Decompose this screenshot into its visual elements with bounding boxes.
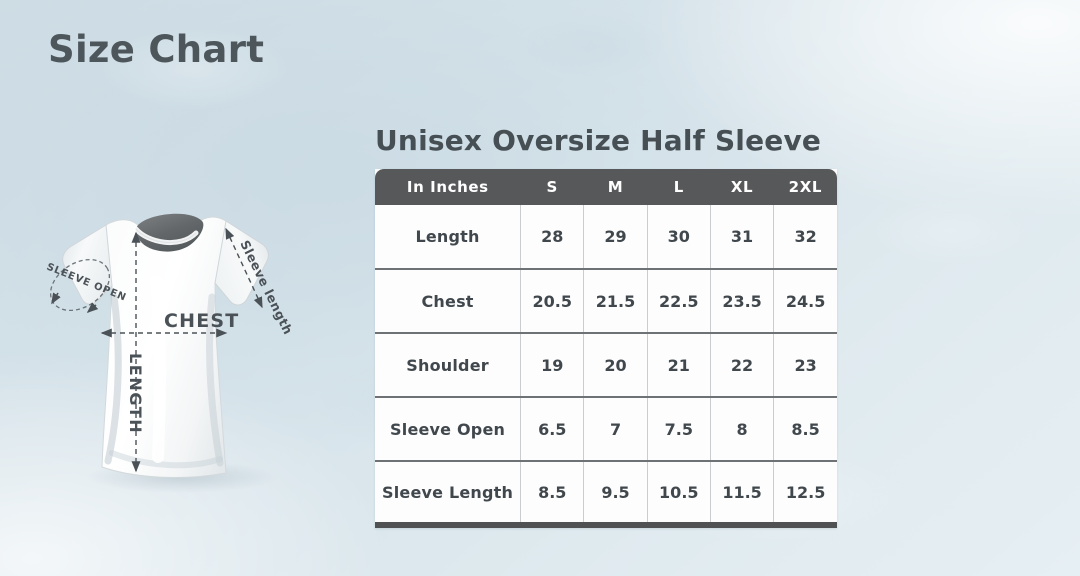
cell-length-2xl: 32 <box>774 205 837 269</box>
column-header-l: L <box>647 169 710 205</box>
table-row: Shoulder 19 20 21 22 23 <box>375 333 837 397</box>
cell-length-xl: 31 <box>710 205 773 269</box>
cell-chest-m: 21.5 <box>584 269 647 333</box>
table-row: Sleeve Length 8.5 9.5 10.5 11.5 12.5 <box>375 461 837 525</box>
column-header-s: S <box>521 169 584 205</box>
row-label-sleeve-length: Sleeve Length <box>375 461 521 525</box>
tshirt-illustration: CHEST LENGTH Sleeve length SLEEVE OPEN <box>30 185 330 495</box>
table-row: Sleeve Open 6.5 7 7.5 8 8.5 <box>375 397 837 461</box>
cell-shoulder-s: 19 <box>521 333 584 397</box>
column-header-unit: In Inches <box>375 169 521 205</box>
size-table-title: Unisex Oversize Half Sleeve <box>375 124 837 157</box>
cell-sleeve-open-s: 6.5 <box>521 397 584 461</box>
cell-shoulder-xl: 22 <box>710 333 773 397</box>
cell-chest-2xl: 24.5 <box>774 269 837 333</box>
size-table: In Inches S M L XL 2XL Length 28 29 30 3… <box>375 169 837 528</box>
cell-length-m: 29 <box>584 205 647 269</box>
size-chart-page: Size Chart <box>0 0 1080 576</box>
column-header-xl: XL <box>710 169 773 205</box>
cell-sleeve-open-2xl: 8.5 <box>774 397 837 461</box>
size-table-body: Length 28 29 30 31 32 Chest 20.5 21.5 22… <box>375 205 837 525</box>
row-label-length: Length <box>375 205 521 269</box>
cell-chest-s: 20.5 <box>521 269 584 333</box>
column-header-m: M <box>584 169 647 205</box>
column-header-2xl: 2XL <box>774 169 837 205</box>
cell-sleeve-length-s: 8.5 <box>521 461 584 525</box>
row-label-shoulder: Shoulder <box>375 333 521 397</box>
row-label-chest: Chest <box>375 269 521 333</box>
cell-sleeve-open-l: 7.5 <box>647 397 710 461</box>
size-table-head: In Inches S M L XL 2XL <box>375 169 837 205</box>
size-table-header-row: In Inches S M L XL 2XL <box>375 169 837 205</box>
table-row: Length 28 29 30 31 32 <box>375 205 837 269</box>
cell-length-s: 28 <box>521 205 584 269</box>
row-label-sleeve-open: Sleeve Open <box>375 397 521 461</box>
cell-sleeve-length-m: 9.5 <box>584 461 647 525</box>
cell-chest-l: 22.5 <box>647 269 710 333</box>
size-table-block: Unisex Oversize Half Sleeve In Inches S … <box>375 124 837 528</box>
chest-label: CHEST <box>164 310 239 332</box>
cell-sleeve-open-xl: 8 <box>710 397 773 461</box>
fold-highlight <box>156 281 160 457</box>
page-title: Size Chart <box>48 28 264 71</box>
cell-length-l: 30 <box>647 205 710 269</box>
cell-sleeve-length-xl: 11.5 <box>710 461 773 525</box>
cell-shoulder-m: 20 <box>584 333 647 397</box>
length-label: LENGTH <box>126 353 145 434</box>
cell-sleeve-open-m: 7 <box>584 397 647 461</box>
sleeve-open-arrow-b <box>88 305 96 312</box>
cell-shoulder-l: 21 <box>647 333 710 397</box>
cell-shoulder-2xl: 23 <box>774 333 837 397</box>
cell-sleeve-length-l: 10.5 <box>647 461 710 525</box>
cell-chest-xl: 23.5 <box>710 269 773 333</box>
table-row: Chest 20.5 21.5 22.5 23.5 24.5 <box>375 269 837 333</box>
sleeve-open-arrow-a <box>52 293 58 303</box>
cell-sleeve-length-2xl: 12.5 <box>774 461 837 525</box>
